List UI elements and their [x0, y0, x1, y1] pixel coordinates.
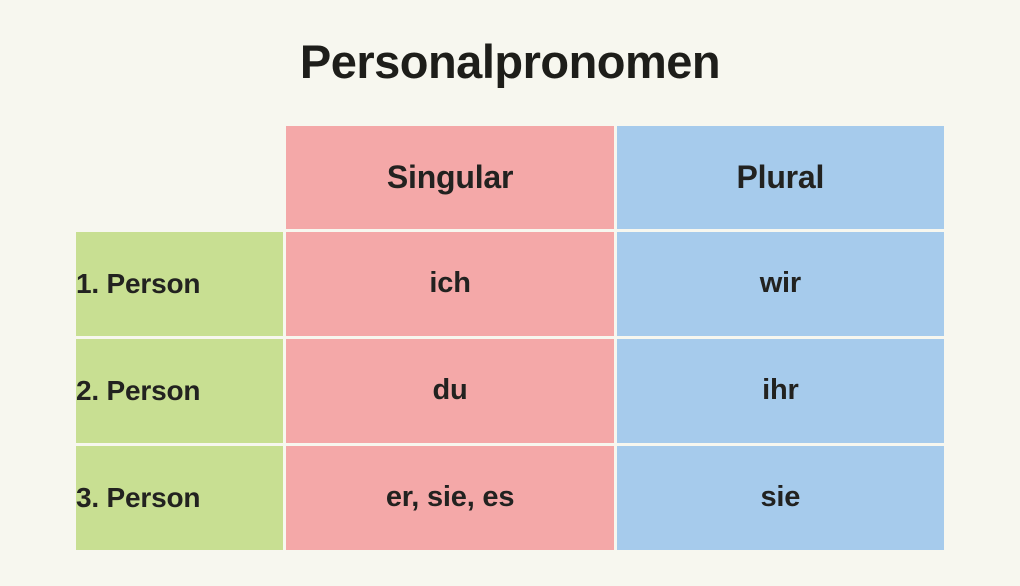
- row-label-1-person: 1. Person: [76, 232, 283, 336]
- personalpronomen-page: Personalpronomen Singular Plural 1. Pers…: [0, 0, 1020, 586]
- cell-1-person-singular: ich: [286, 232, 613, 336]
- personal-pronouns-table: Singular Plural 1. Person ich wir 2. Per…: [73, 123, 947, 553]
- row-label-2-person: 2. Person: [76, 339, 283, 443]
- cell-1-person-plural: wir: [617, 232, 944, 336]
- column-header-plural: Plural: [617, 126, 944, 229]
- table-header-row: Singular Plural: [76, 126, 944, 229]
- cell-2-person-singular: du: [286, 339, 613, 443]
- table-row: 2. Person du ihr: [76, 339, 944, 443]
- row-label-3-person: 3. Person: [76, 446, 283, 550]
- cell-2-person-plural: ihr: [617, 339, 944, 443]
- page-title: Personalpronomen: [0, 30, 1020, 94]
- table-corner-cell: [76, 126, 283, 229]
- table-row: 1. Person ich wir: [76, 232, 944, 336]
- column-header-singular: Singular: [286, 126, 613, 229]
- cell-3-person-plural: sie: [617, 446, 944, 550]
- cell-3-person-singular: er, sie, es: [286, 446, 613, 550]
- table-row: 3. Person er, sie, es sie: [76, 446, 944, 550]
